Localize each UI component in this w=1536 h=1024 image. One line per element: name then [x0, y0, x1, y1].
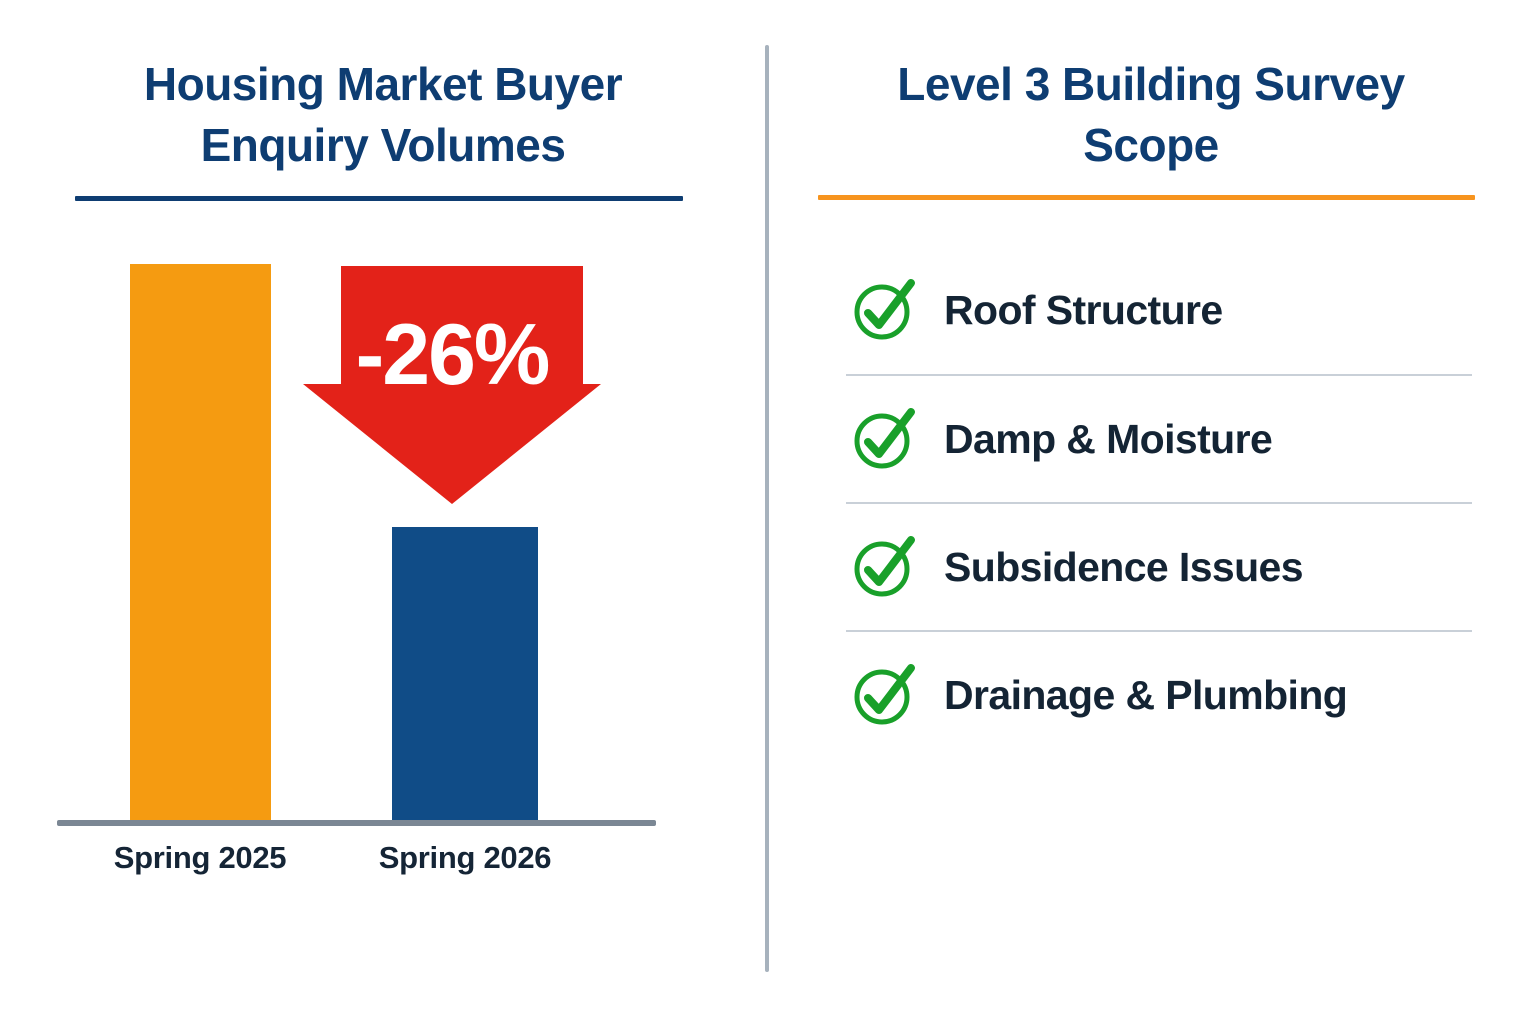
left-panel-chart: Housing Market Buyer Enquiry Volumes Spr…: [0, 0, 766, 1024]
scope-item-label: Roof Structure: [944, 287, 1223, 334]
check-circle-icon: [852, 663, 916, 727]
scope-item-label: Drainage & Plumbing: [944, 672, 1347, 719]
scope-item-label: Damp & Moisture: [944, 416, 1272, 463]
check-circle-icon: [852, 407, 916, 471]
bar-spring-2026[interactable]: [392, 527, 538, 820]
check-circle-icon: [852, 278, 916, 342]
scope-item-damp-moisture[interactable]: Damp & Moisture: [846, 374, 1472, 502]
scope-item-list: Roof Structure Damp & Moisture Subsidenc…: [846, 246, 1472, 758]
bar-label-spring-2026: Spring 2026: [355, 840, 575, 876]
check-circle-icon: [852, 535, 916, 599]
bar-spring-2025[interactable]: [130, 264, 271, 820]
scope-item-roof-structure[interactable]: Roof Structure: [846, 246, 1472, 374]
down-arrow-icon: -26%: [303, 266, 601, 504]
infographic-canvas: Housing Market Buyer Enquiry Volumes Spr…: [0, 0, 1536, 1024]
scope-item-label: Subsidence Issues: [944, 544, 1303, 591]
bar-label-spring-2025: Spring 2025: [90, 840, 310, 876]
scope-item-drainage-plumbing[interactable]: Drainage & Plumbing: [846, 630, 1472, 758]
right-title-rule: [818, 195, 1475, 200]
chart-baseline-axis: [57, 820, 656, 826]
scope-item-subsidence-issues[interactable]: Subsidence Issues: [846, 502, 1472, 630]
bar-chart: Spring 2025 Spring 2026 -26%: [0, 0, 766, 1024]
right-panel-title: Level 3 Building Survey Scope: [766, 54, 1536, 176]
